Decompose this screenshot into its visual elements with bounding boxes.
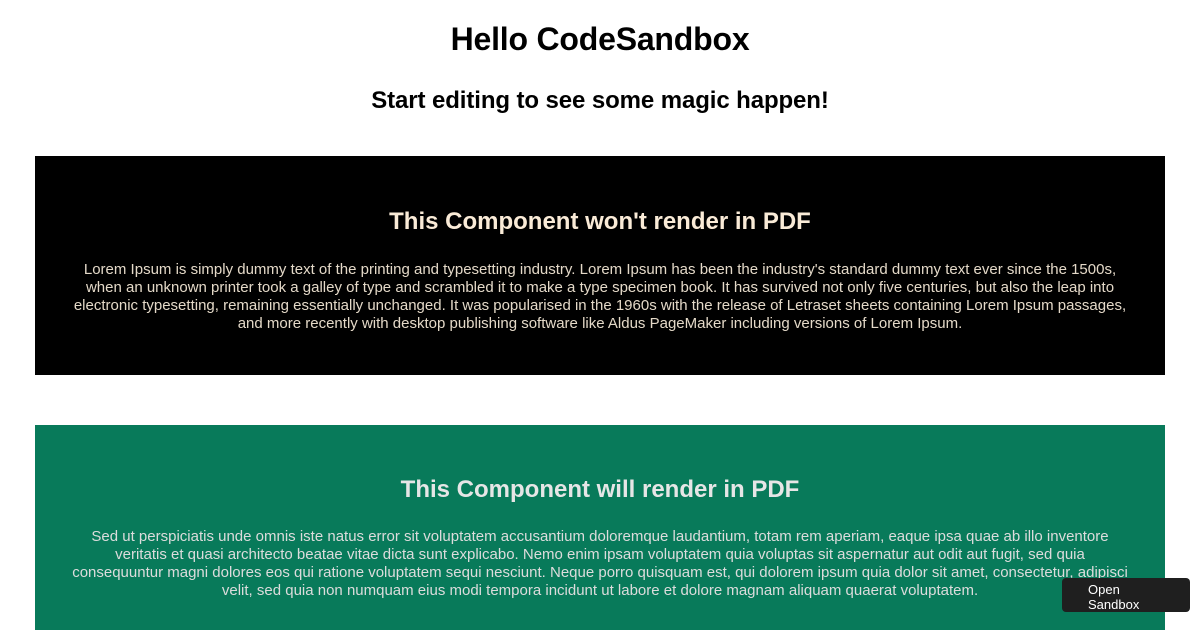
section-pdf: This Component will render in PDF Sed ut…	[35, 425, 1165, 630]
section-no-pdf: This Component won't render in PDF Lorem…	[35, 156, 1165, 375]
section-no-pdf-heading: This Component won't render in PDF	[35, 156, 1165, 236]
open-sandbox-button[interactable]: Open Sandbox	[1062, 578, 1190, 612]
open-sandbox-label: Open Sandbox	[1088, 582, 1190, 612]
page-root: Hello CodeSandbox Start editing to see s…	[0, 0, 1200, 630]
page-subtitle: Start editing to see some magic happen!	[0, 58, 1200, 115]
section-pdf-heading: This Component will render in PDF	[35, 425, 1165, 504]
section-pdf-body: Sed ut perspiciatis unde omnis iste natu…	[70, 504, 1130, 600]
page-title: Hello CodeSandbox	[0, 0, 1200, 58]
section-no-pdf-body: Lorem Ipsum is simply dummy text of the …	[65, 236, 1135, 333]
